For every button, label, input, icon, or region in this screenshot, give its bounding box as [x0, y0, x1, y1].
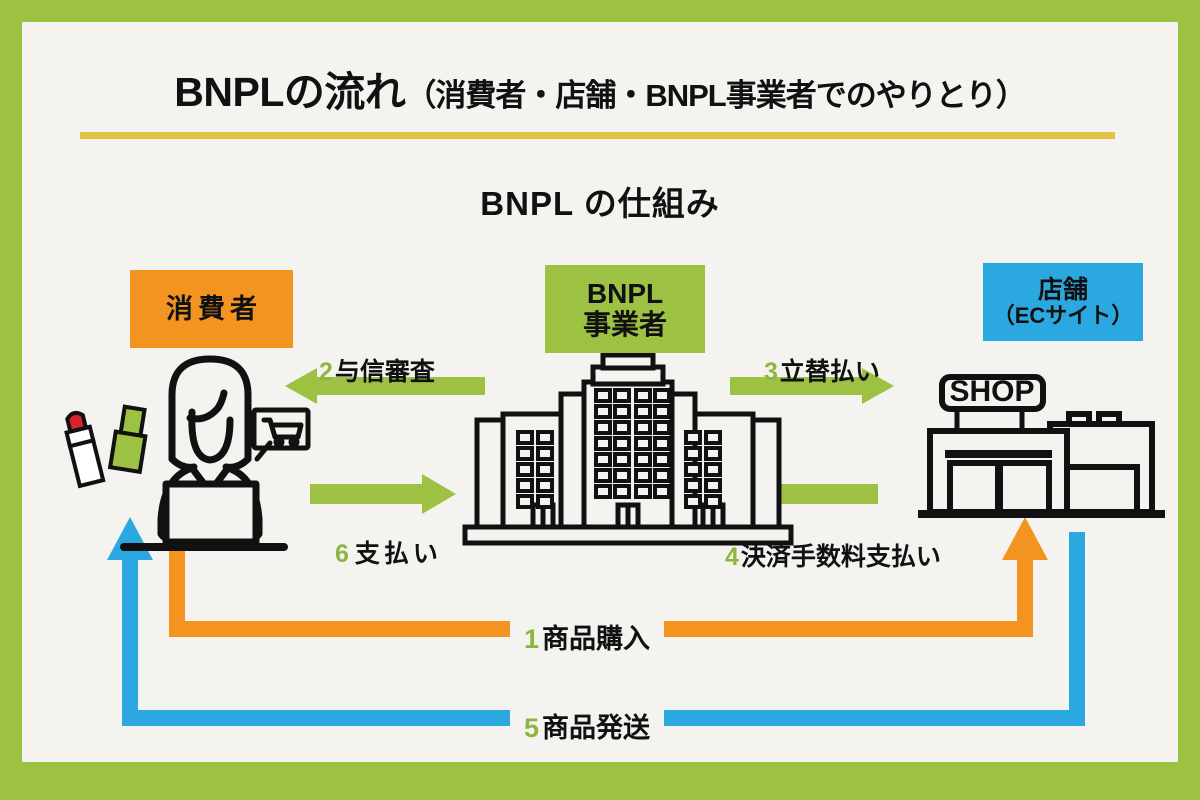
flow-text-3: 立替払い	[780, 358, 880, 386]
flow-label-2: 2与信審査	[319, 352, 435, 388]
flow-number-5: 5	[524, 713, 539, 743]
flow-label-3: 3立替払い	[764, 352, 880, 388]
flow-number-1: 1	[524, 624, 539, 654]
node-bnpl-label-line1: BNPL	[587, 278, 663, 309]
flow-number-3: 3	[764, 358, 778, 386]
flow-label-4: 4決済手数料支払い	[725, 537, 941, 573]
flow-arrow-6-payment	[310, 474, 456, 514]
flow-text-4: 決済手数料支払い	[741, 543, 941, 571]
node-consumer[interactable]: 消費者	[130, 270, 293, 348]
flow-text-6: 支払い	[355, 540, 442, 568]
lipstick-icon	[62, 410, 103, 486]
flow-number-2: 2	[319, 358, 333, 386]
flow-label-5: 5商品発送	[510, 706, 664, 745]
node-shop-label-line2: （ECサイト）	[993, 304, 1134, 329]
flow-text-1: 商品購入	[542, 624, 650, 654]
poster-frame: BNPLの流れ（消費者・店舗・BNPL事業者でのやりとり） BNPL の仕組み	[0, 0, 1200, 800]
flow-text-5: 商品発送	[542, 713, 650, 743]
shopping-cart-bubble-icon	[254, 410, 308, 459]
flow-number-6: 6	[335, 540, 353, 568]
flow-label-1: 1商品購入	[510, 617, 664, 656]
node-bnpl-label-line2: 事業者	[583, 309, 667, 340]
node-bnpl-provider[interactable]: BNPL 事業者	[545, 265, 705, 353]
nail-polish-icon	[110, 406, 149, 472]
node-shop[interactable]: 店舗 （ECサイト）	[983, 263, 1143, 341]
node-shop-label-line1: 店舗	[1038, 276, 1088, 304]
flow-number-4: 4	[725, 543, 739, 571]
shop-sign-text: SHOP	[949, 375, 1034, 408]
flow-text-2: 与信審査	[335, 358, 435, 386]
flow-label-6: 6支払い	[335, 534, 442, 570]
poster-canvas: BNPLの流れ（消費者・店舗・BNPL事業者でのやりとり） BNPL の仕組み	[22, 22, 1178, 762]
node-consumer-label: 消費者	[161, 294, 262, 324]
